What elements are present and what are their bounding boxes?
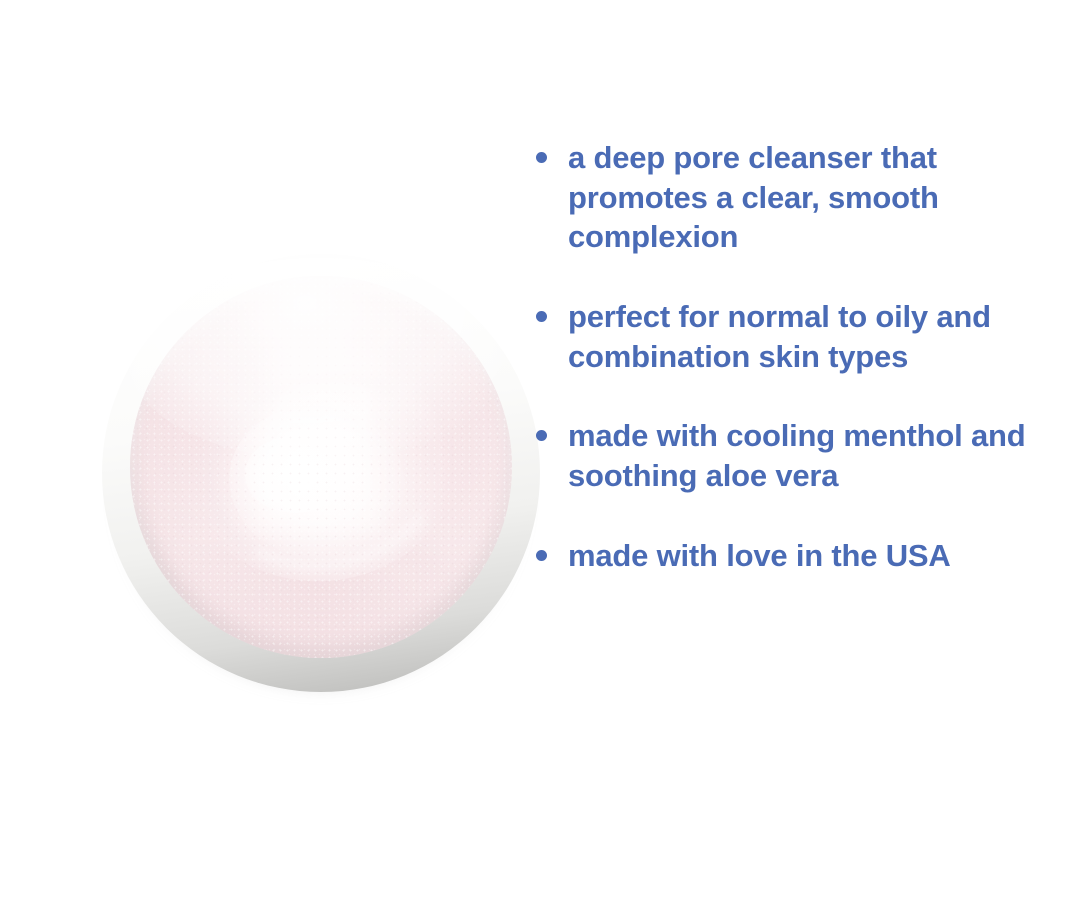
product-benefits-page: a deep pore cleanser that promotes a cle… bbox=[0, 0, 1069, 913]
benefit-item: perfect for normal to oily and combinati… bbox=[528, 297, 1069, 376]
benefit-text: perfect for normal to oily and combinati… bbox=[568, 297, 1069, 376]
bullet-dot-icon bbox=[536, 152, 547, 163]
benefit-text: a deep pore cleanser that promotes a cle… bbox=[568, 138, 1069, 257]
dish-rim bbox=[102, 254, 540, 692]
product-image-powder-dish bbox=[102, 254, 540, 692]
bullet-dot-icon bbox=[536, 550, 547, 561]
benefit-item: made with cooling menthol and soothing a… bbox=[528, 416, 1069, 495]
benefit-item: a deep pore cleanser that promotes a cle… bbox=[528, 138, 1069, 257]
benefits-list: a deep pore cleanser that promotes a cle… bbox=[528, 138, 1069, 575]
powder-surface bbox=[130, 276, 512, 658]
bullet-dot-icon bbox=[536, 430, 547, 441]
bullet-dot-icon bbox=[536, 311, 547, 322]
benefit-item: made with love in the USA bbox=[528, 536, 1069, 576]
benefit-text: made with cooling menthol and soothing a… bbox=[568, 416, 1069, 495]
powder-grain-texture bbox=[130, 276, 512, 658]
benefit-text: made with love in the USA bbox=[568, 536, 1069, 576]
